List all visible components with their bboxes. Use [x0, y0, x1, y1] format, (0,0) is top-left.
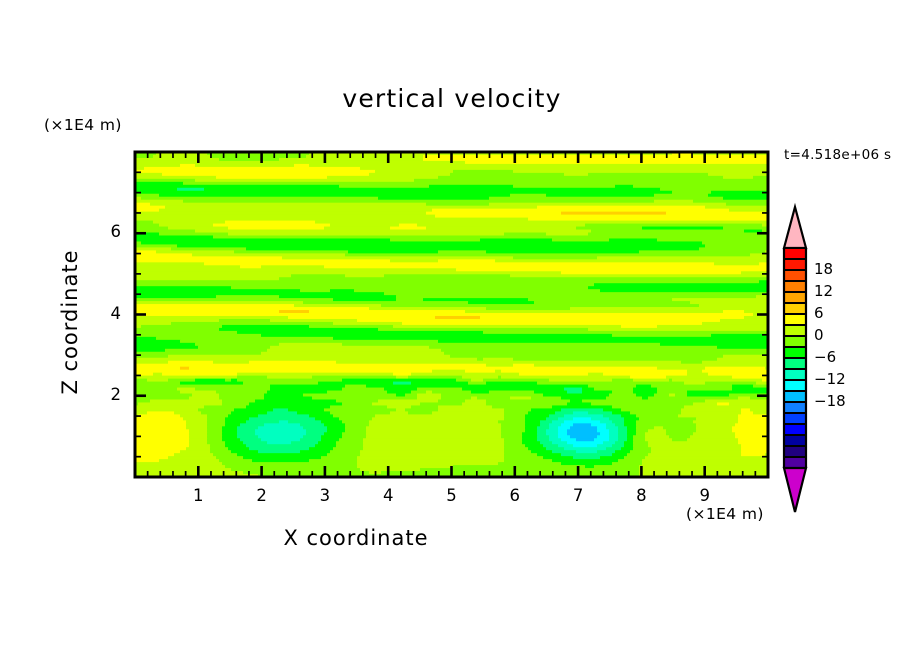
colorbar-tick-label: −6	[814, 348, 836, 366]
y-tick-label: 4	[91, 304, 121, 323]
x-tick-label: 9	[690, 486, 720, 505]
colorbar-tick-label: 12	[814, 282, 833, 300]
x-tick-label: 1	[183, 486, 213, 505]
x-tick-label: 5	[437, 486, 467, 505]
colorbar-tick-label: −18	[814, 392, 846, 410]
x-tick-label: 4	[373, 486, 403, 505]
colorbar-tick-label: −12	[814, 370, 846, 388]
x-tick-label: 2	[247, 486, 277, 505]
x-tick-label: 3	[310, 486, 340, 505]
y-tick-label: 6	[91, 222, 121, 241]
colorbar	[784, 207, 806, 512]
colorbar-tick-label: 0	[814, 326, 824, 344]
contour-field	[135, 152, 768, 477]
contour-plot	[0, 0, 904, 654]
x-tick-label: 8	[626, 486, 656, 505]
y-tick-label: 2	[91, 385, 121, 404]
x-tick-label: 6	[500, 486, 530, 505]
x-tick-label: 7	[563, 486, 593, 505]
figure-canvas: vertical velocity (×1E4 m) (×1E4 m) t=4.…	[0, 0, 904, 654]
colorbar-tick-label: 6	[814, 304, 824, 322]
colorbar-tick-label: 18	[814, 260, 833, 278]
